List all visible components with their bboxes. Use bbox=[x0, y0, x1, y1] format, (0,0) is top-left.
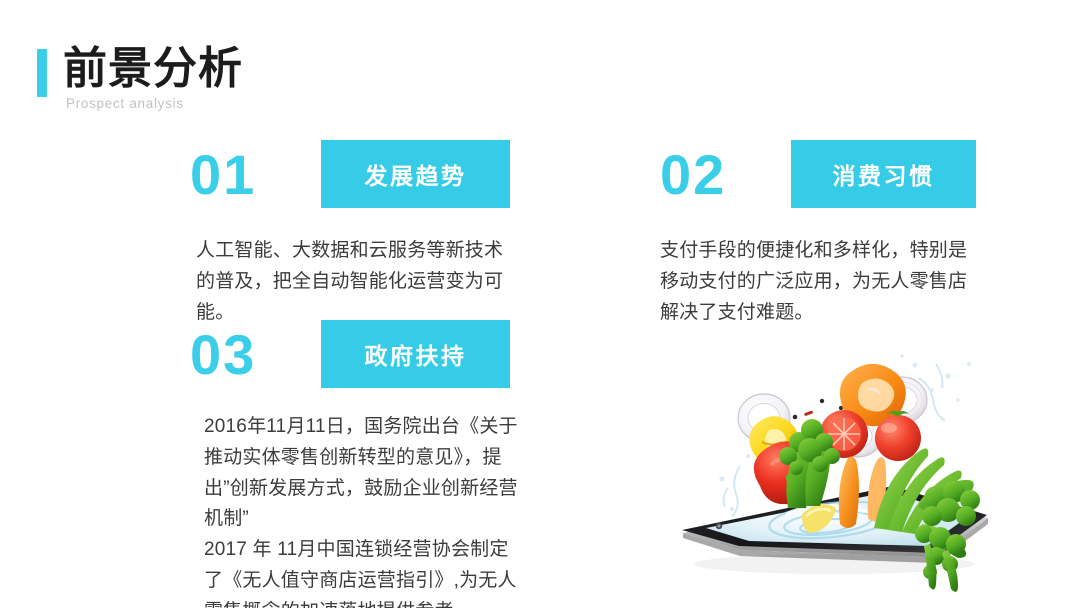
header-text-block: 前景分析 Prospect analysis bbox=[63, 46, 243, 111]
section-03-badge-label: 政府扶持 bbox=[365, 337, 467, 371]
tablet-vegetables-image bbox=[636, 338, 1036, 600]
section-01: 01 发展趋势 人工智能、大数据和云服务等新技术的普及，把全自动智能化运营变为可… bbox=[190, 140, 520, 328]
section-02-body: 支付手段的便捷化和多样化，特别是移动支付的广泛应用，为无人零售店解决了支付难题。 bbox=[660, 236, 982, 328]
section-03-paragraph-1: 2016年11月11日，国务院出台《关于推动实体零售创新转型的意见》，提出”创新… bbox=[204, 412, 522, 535]
section-01-head: 01 发展趋势 bbox=[190, 140, 520, 210]
slide-canvas: 前景分析 Prospect analysis 01 发展趋势 人工智能、大数据和… bbox=[0, 0, 1080, 608]
section-03: 03 政府扶持 2016年11月11日，国务院出台《关于推动实体零售创新转型的意… bbox=[190, 320, 520, 608]
section-03-badge[interactable]: 政府扶持 bbox=[321, 320, 510, 388]
section-02-paragraph: 支付手段的便捷化和多样化，特别是移动支付的广泛应用，为无人零售店解决了支付难题。 bbox=[660, 236, 982, 328]
section-01-badge[interactable]: 发展趋势 bbox=[321, 140, 510, 208]
page-subtitle: Prospect analysis bbox=[66, 96, 243, 111]
section-03-number: 03 bbox=[190, 327, 256, 383]
section-01-number: 01 bbox=[190, 147, 256, 203]
slide-header: 前景分析 Prospect analysis bbox=[37, 46, 243, 111]
section-02-number: 02 bbox=[660, 147, 726, 203]
section-02: 02 消费习惯 支付手段的便捷化和多样化，特别是移动支付的广泛应用，为无人零售店… bbox=[660, 140, 990, 328]
section-02-badge-label: 消费习惯 bbox=[833, 157, 935, 191]
section-01-body: 人工智能、大数据和云服务等新技术的普及，把全自动智能化运营变为可能。 bbox=[196, 236, 506, 328]
section-01-badge-label: 发展趋势 bbox=[365, 157, 467, 191]
section-02-head: 02 消费习惯 bbox=[660, 140, 990, 210]
section-01-paragraph: 人工智能、大数据和云服务等新技术的普及，把全自动智能化运营变为可能。 bbox=[196, 236, 506, 328]
section-03-body: 2016年11月11日，国务院出台《关于推动实体零售创新转型的意见》，提出”创新… bbox=[204, 412, 522, 608]
section-03-head: 03 政府扶持 bbox=[190, 320, 520, 390]
section-03-paragraph-2: 2017 年 11月中国连锁经营协会制定了《无人值守商店运营指引》,为无人零售概… bbox=[204, 535, 522, 608]
title-accent-bar bbox=[37, 49, 47, 97]
page-title: 前景分析 bbox=[63, 46, 243, 91]
section-02-badge[interactable]: 消费习惯 bbox=[791, 140, 976, 208]
